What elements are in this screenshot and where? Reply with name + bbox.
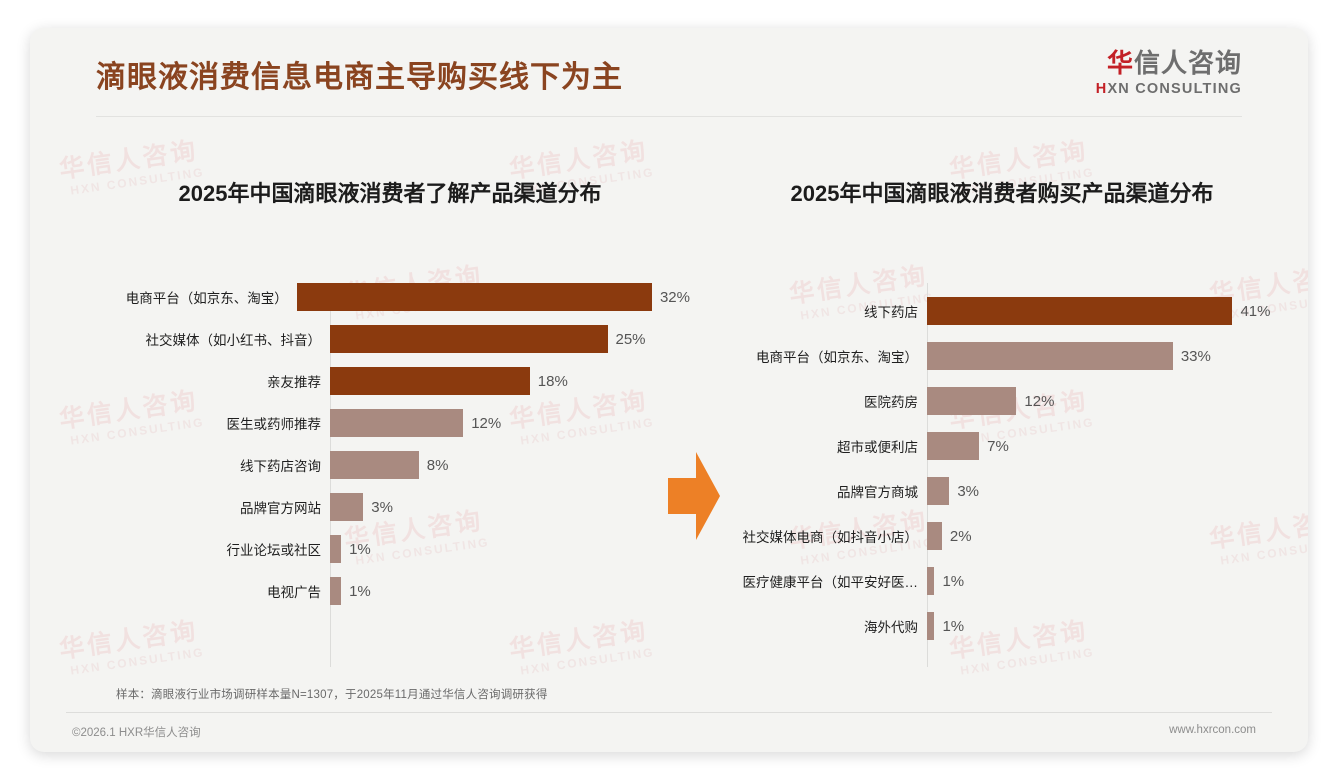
chart-title-awareness: 2025年中国滴眼液消费者了解产品渠道分布 bbox=[90, 176, 690, 208]
page-title: 滴眼液消费信息电商主导购买线下为主 bbox=[96, 52, 623, 96]
bar bbox=[927, 477, 949, 505]
bar-category-label: 医疗健康平台（如平安好医… bbox=[702, 571, 927, 591]
bar-category-label: 社交媒体电商（如抖音小店） bbox=[702, 526, 927, 546]
logo-en-accent: H bbox=[1096, 81, 1108, 97]
bar-track: 3% bbox=[927, 477, 1302, 505]
bar-track: 25% bbox=[330, 325, 690, 353]
bar-row: 电商平台（如京东、淘宝）32% bbox=[90, 283, 690, 311]
bar-value-label: 1% bbox=[349, 541, 371, 558]
bar-value-label: 12% bbox=[471, 415, 501, 432]
bar-track: 1% bbox=[927, 567, 1302, 595]
source-footnote: 样本：滴眼液行业市场调研样本量N=1307，于2025年11月通过华信人咨询调研… bbox=[116, 686, 548, 702]
charts-container: 2025年中国滴眼液消费者了解产品渠道分布 电商平台（如京东、淘宝）32%社交媒… bbox=[30, 128, 1308, 688]
bar-value-label: 18% bbox=[538, 373, 568, 390]
bar-row: 线下药店41% bbox=[702, 297, 1302, 325]
bar-category-label: 超市或便利店 bbox=[702, 436, 927, 456]
bar bbox=[927, 432, 979, 460]
bar-category-label: 医院药房 bbox=[702, 391, 927, 411]
bar-track: 7% bbox=[927, 432, 1302, 460]
bar-value-label: 25% bbox=[616, 331, 646, 348]
bar-value-label: 33% bbox=[1181, 348, 1211, 365]
bar-track: 1% bbox=[927, 612, 1302, 640]
bar-row: 社交媒体（如小红书、抖音）25% bbox=[90, 325, 690, 353]
bar-row: 海外代购1% bbox=[702, 612, 1302, 640]
logo-en-rest: XN CONSULTING bbox=[1107, 81, 1242, 97]
brand-logo: 华信人咨询 HXN CONSULTING bbox=[1096, 50, 1242, 97]
bar-row: 医院药房12% bbox=[702, 387, 1302, 415]
bar-value-label: 1% bbox=[942, 618, 964, 635]
header-divider bbox=[96, 116, 1242, 117]
bar bbox=[927, 297, 1232, 325]
bar-value-label: 32% bbox=[660, 289, 690, 306]
footer-divider bbox=[66, 712, 1272, 713]
bar-track: 33% bbox=[927, 342, 1302, 370]
bar-row: 亲友推荐18% bbox=[90, 367, 690, 395]
bar-row: 线下药店咨询8% bbox=[90, 451, 690, 479]
bar-value-label: 3% bbox=[371, 499, 393, 516]
logo-cn-rest: 信人咨询 bbox=[1134, 48, 1242, 78]
bar bbox=[330, 367, 530, 395]
bar-track: 18% bbox=[330, 367, 690, 395]
bar bbox=[330, 325, 608, 353]
bar-row: 医疗健康平台（如平安好医…1% bbox=[702, 567, 1302, 595]
bar-category-label: 品牌官方网站 bbox=[90, 497, 330, 517]
bar bbox=[927, 612, 934, 640]
chart-panel-purchase: 2025年中国滴眼液消费者购买产品渠道分布 线下药店41%电商平台（如京东、淘宝… bbox=[702, 128, 1302, 688]
bar-row: 超市或便利店7% bbox=[702, 432, 1302, 460]
bar-chart-purchase: 线下药店41%电商平台（如京东、淘宝）33%医院药房12%超市或便利店7%品牌官… bbox=[702, 283, 1302, 673]
logo-cn-accent: 华 bbox=[1107, 48, 1134, 78]
bar-value-label: 8% bbox=[427, 457, 449, 474]
website-text: www.hxrcon.com bbox=[1169, 724, 1256, 736]
bar-row: 电视广告1% bbox=[90, 577, 690, 605]
bar-track: 1% bbox=[330, 535, 690, 563]
bar bbox=[330, 409, 463, 437]
bar-category-label: 品牌官方商城 bbox=[702, 481, 927, 501]
bar bbox=[927, 567, 934, 595]
bar-value-label: 7% bbox=[987, 438, 1009, 455]
slide-header: 滴眼液消费信息电商主导购买线下为主 华信人咨询 HXN CONSULTING bbox=[30, 28, 1308, 120]
bar-track: 3% bbox=[330, 493, 690, 521]
bar-category-label: 行业论坛或社区 bbox=[90, 539, 330, 559]
bar-value-label: 41% bbox=[1240, 303, 1270, 320]
logo-english-text: HXN CONSULTING bbox=[1096, 81, 1242, 97]
bar-category-label: 线下药店咨询 bbox=[90, 455, 330, 475]
orange-right-arrow-icon bbox=[668, 448, 720, 544]
bar bbox=[330, 493, 363, 521]
slide-card: 华信人咨询HXN CONSULTING华信人咨询HXN CONSULTING华信… bbox=[30, 28, 1308, 752]
bar-chart-awareness: 电商平台（如京东、淘宝）32%社交媒体（如小红书、抖音）25%亲友推荐18%医生… bbox=[90, 283, 690, 673]
bar-category-label: 海外代购 bbox=[702, 616, 927, 636]
bar-track: 32% bbox=[297, 283, 690, 311]
bar-row: 品牌官方网站3% bbox=[90, 493, 690, 521]
bar-row: 社交媒体电商（如抖音小店）2% bbox=[702, 522, 1302, 550]
bar bbox=[927, 522, 942, 550]
bar bbox=[927, 387, 1016, 415]
bar-value-label: 12% bbox=[1024, 393, 1054, 410]
bar-value-label: 1% bbox=[349, 583, 371, 600]
bar-value-label: 2% bbox=[950, 528, 972, 545]
slide-footer: ©2026.1 HXR华信人咨询 www.hxrcon.com bbox=[30, 718, 1308, 752]
bar-row: 品牌官方商城3% bbox=[702, 477, 1302, 505]
bar bbox=[330, 451, 419, 479]
bar bbox=[297, 283, 652, 311]
bar-track: 12% bbox=[927, 387, 1302, 415]
bar-category-label: 电商平台（如京东、淘宝） bbox=[702, 346, 927, 366]
bar-row: 电商平台（如京东、淘宝）33% bbox=[702, 342, 1302, 370]
chart-title-purchase: 2025年中国滴眼液消费者购买产品渠道分布 bbox=[702, 176, 1302, 208]
bar-category-label: 社交媒体（如小红书、抖音） bbox=[90, 329, 330, 349]
bar bbox=[330, 535, 341, 563]
bar-category-label: 线下药店 bbox=[702, 301, 927, 321]
bar-track: 41% bbox=[927, 297, 1302, 325]
bar-track: 2% bbox=[927, 522, 1302, 550]
bar-value-label: 3% bbox=[957, 483, 979, 500]
bar-value-label: 1% bbox=[942, 573, 964, 590]
bar-category-label: 亲友推荐 bbox=[90, 371, 330, 391]
chart-panel-awareness: 2025年中国滴眼液消费者了解产品渠道分布 电商平台（如京东、淘宝）32%社交媒… bbox=[90, 128, 690, 688]
logo-chinese-text: 华信人咨询 bbox=[1096, 50, 1242, 76]
bar-row: 行业论坛或社区1% bbox=[90, 535, 690, 563]
bar-category-label: 医生或药师推荐 bbox=[90, 413, 330, 433]
bar-category-label: 电商平台（如京东、淘宝） bbox=[90, 287, 297, 307]
bar-track: 1% bbox=[330, 577, 690, 605]
bar-track: 8% bbox=[330, 451, 690, 479]
bar-category-label: 电视广告 bbox=[90, 581, 330, 601]
bar-track: 12% bbox=[330, 409, 690, 437]
bar-row: 医生或药师推荐12% bbox=[90, 409, 690, 437]
bar bbox=[330, 577, 341, 605]
bar bbox=[927, 342, 1173, 370]
value-axis-line-right bbox=[927, 283, 928, 667]
copyright-text: ©2026.1 HXR华信人咨询 bbox=[72, 724, 201, 740]
